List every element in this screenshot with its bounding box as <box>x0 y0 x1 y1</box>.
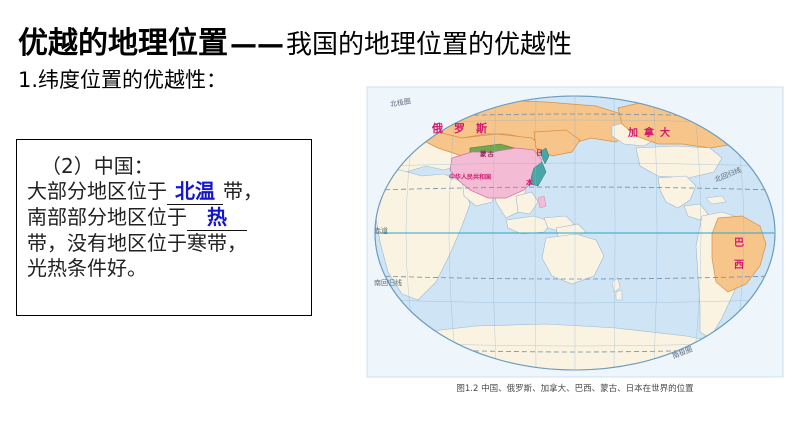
answer-textbox: （2）中国： 大部分地区位于北温带， 南部部分地区位于热 带，没有地区位于寒带，… <box>16 139 312 316</box>
world-map-svg <box>366 86 784 380</box>
title-main-text: 优越的地理位置 <box>18 26 228 61</box>
textbox-line3-pre: 南部部分地区位于 <box>27 205 187 229</box>
map-label-china: 中华人民共和国 <box>449 172 491 181</box>
title-dash: —— <box>228 29 286 60</box>
title-sub-text: 我国的地理位置的优越性 <box>286 30 572 60</box>
map-label-tropic-of-capricorn: 南回归线 <box>374 278 402 288</box>
textbox-line-3: 南部部分地区位于热 <box>27 205 301 231</box>
textbox-line-2: 大部分地区位于北温带， <box>27 179 301 205</box>
map-caption: 图1.2 中国、俄罗斯、加拿大、巴西、蒙古、日本在世界的位置 <box>366 382 784 394</box>
map-label-russia: 俄罗斯 <box>432 120 498 136</box>
world-map: 俄罗斯 蒙古 中华人民共和国 日 本 加拿大 巴 西 北极圈 北回归线 赤道 南… <box>366 86 784 380</box>
subheading-latitude-advantage: 1.纬度位置的优越性： <box>18 64 227 94</box>
map-label-brazil-char1: 巴 <box>734 234 744 249</box>
map-label-japan-char1: 日 <box>536 148 543 158</box>
map-label-canada: 加拿大 <box>628 124 676 139</box>
map-label-equator: 赤道 <box>374 226 388 236</box>
textbox-line-4: 带，没有地区位于寒带， <box>27 231 301 256</box>
map-label-brazil-char2: 西 <box>734 256 744 271</box>
slide-root: 优越的地理位置——我国的地理位置的优越性 1.纬度位置的优越性： （2）中国： … <box>0 0 794 447</box>
blank-answer-north-temperate[interactable]: 北温 <box>167 179 223 205</box>
page-title: 优越的地理位置——我国的地理位置的优越性 <box>18 18 778 60</box>
textbox-line-1: （2）中国： <box>27 154 301 179</box>
textbox-line2-post: 带， <box>223 179 263 203</box>
map-label-japan-char2: 本 <box>526 178 533 188</box>
textbox-line-5: 光热条件好。 <box>27 256 301 281</box>
textbox-line2-pre: 大部分地区位于 <box>27 179 167 203</box>
blank-answer-torrid[interactable]: 热 <box>187 205 247 231</box>
map-label-mongolia: 蒙古 <box>480 148 495 158</box>
